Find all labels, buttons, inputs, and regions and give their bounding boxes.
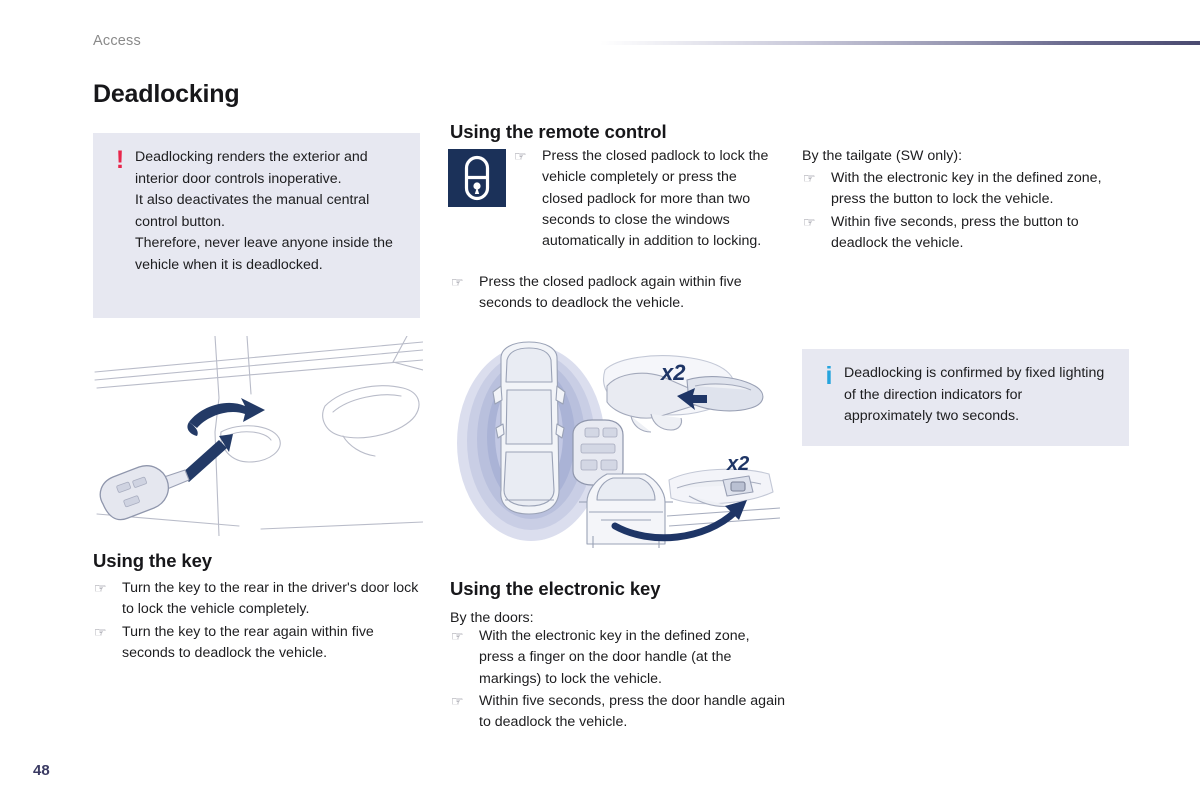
closed-padlock-icon xyxy=(448,149,506,207)
list-item: ☞ Turn the key to the rear again within … xyxy=(93,622,428,665)
information-icon: i xyxy=(814,363,844,389)
list-item-text: With the electronic key in the defined z… xyxy=(831,168,1137,211)
section-label: Access xyxy=(93,33,141,49)
list-item: ☞ Within five seconds, press the button … xyxy=(802,212,1137,255)
list-item: ☞ Turn the key to the rear in the driver… xyxy=(93,578,428,621)
info-callout: i Deadlocking is confirmed by fixed ligh… xyxy=(802,349,1129,446)
exclamation-mark-icon: ! xyxy=(105,147,135,173)
pointing-hand-icon: ☞ xyxy=(513,146,542,167)
svg-text:x2: x2 xyxy=(726,453,749,475)
list-item-text: Press the closed padlock to lock the veh… xyxy=(542,146,781,252)
key-in-door-lock-illustration xyxy=(93,336,423,536)
list-item: ☞ With the electronic key in the defined… xyxy=(450,626,785,690)
info-callout-text: Deadlocking is confirmed by fixed lighti… xyxy=(844,363,1113,428)
list-item-text: Within five seconds, press the button to… xyxy=(831,212,1137,255)
list-item-text: Turn the key to the rear in the driver's… xyxy=(122,578,428,621)
tailgate-list: ☞ With the electronic key in the defined… xyxy=(802,168,1137,255)
list-item-text: Press the closed padlock again within fi… xyxy=(479,272,781,315)
remote-control-list-primary: ☞ Press the closed padlock to lock the v… xyxy=(513,146,781,253)
remote-control-list-secondary: ☞ Press the closed padlock again within … xyxy=(450,272,781,316)
list-item: ☞ Press the closed padlock to lock the v… xyxy=(513,146,781,252)
pointing-hand-icon: ☞ xyxy=(450,272,479,293)
pointing-hand-icon: ☞ xyxy=(450,691,479,712)
page-title: Deadlocking xyxy=(93,80,239,109)
warning-callout: ! Deadlocking renders the exterior and i… xyxy=(93,133,420,318)
header-rule xyxy=(600,41,1200,45)
using-the-electronic-key-heading: Using the electronic key xyxy=(450,578,660,600)
list-item-text: Within five seconds, press the door hand… xyxy=(479,691,785,734)
pointing-hand-icon: ☞ xyxy=(450,626,479,647)
using-the-remote-control-heading: Using the remote control xyxy=(450,121,667,143)
electronic-key-detection-zone-illustration: x2 x2 xyxy=(455,340,780,555)
list-item: ☞ Within five seconds, press the door ha… xyxy=(450,691,785,734)
list-item: ☞ With the electronic key in the defined… xyxy=(802,168,1137,211)
pointing-hand-icon: ☞ xyxy=(93,622,122,643)
pointing-hand-icon: ☞ xyxy=(802,168,831,189)
warning-callout-text: Deadlocking renders the exterior and int… xyxy=(135,147,404,276)
list-item-text: Turn the key to the rear again within fi… xyxy=(122,622,428,665)
using-the-key-heading: Using the key xyxy=(93,550,212,572)
electronic-key-list: ☞ With the electronic key in the defined… xyxy=(450,626,785,734)
pointing-hand-icon: ☞ xyxy=(93,578,122,599)
page-number: 48 xyxy=(33,762,50,779)
list-item: ☞ Press the closed padlock again within … xyxy=(450,272,781,315)
using-the-key-list: ☞ Turn the key to the rear in the driver… xyxy=(93,578,428,665)
list-item-text: With the electronic key in the defined z… xyxy=(479,626,785,690)
svg-text:x2: x2 xyxy=(660,360,686,385)
pointing-hand-icon: ☞ xyxy=(802,212,831,233)
tailgate-intro: By the tailgate (SW only): xyxy=(802,146,962,167)
